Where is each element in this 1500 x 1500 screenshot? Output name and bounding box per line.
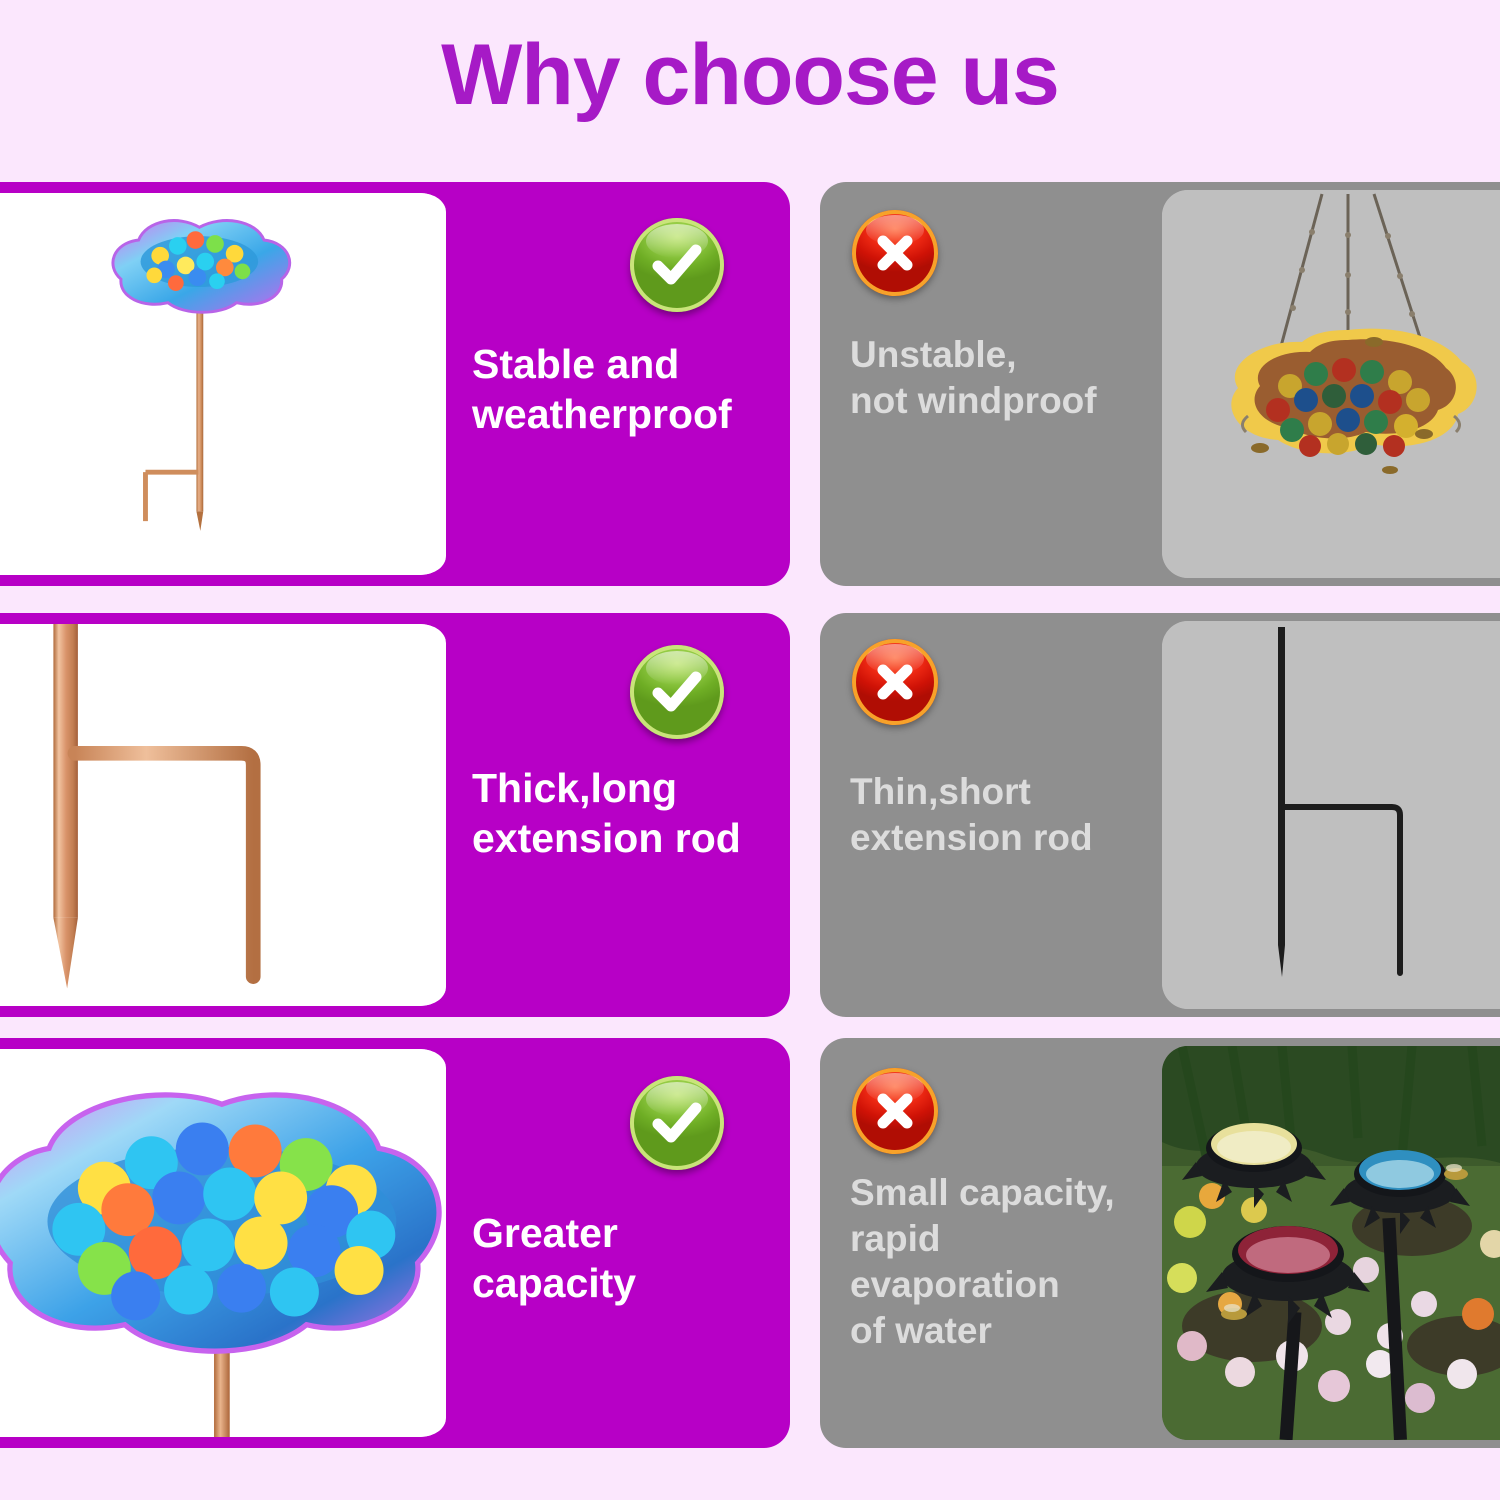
bad-panel-2: Thin,short extension rod	[820, 613, 1500, 1017]
check-icon	[648, 236, 706, 294]
good-panel-3: Greater capacity	[0, 1038, 790, 1448]
good-panel-1: Stable and weatherproof	[0, 182, 790, 586]
close-icon	[870, 657, 920, 707]
check-badge	[630, 1076, 724, 1170]
bad-label-2: Thin,short extension rod	[850, 769, 1150, 861]
good-photo-1	[0, 186, 446, 582]
bad-label-1: Unstable, not windproof	[850, 332, 1150, 424]
garden-small-bowl-feeders-photo-image	[1162, 1046, 1500, 1440]
good-photo-3	[0, 1042, 446, 1444]
good-photo-2	[0, 617, 446, 1013]
bad-photo-2	[1162, 621, 1500, 1009]
cross-badge	[852, 210, 938, 296]
comparison-row-3: Greater capacity Small capacity, rapid e…	[0, 1038, 1500, 1448]
check-badge	[630, 645, 724, 739]
hanging-chain-bee-feeder-image	[1162, 190, 1500, 578]
large-marble-filled-bowl-image	[0, 1049, 446, 1437]
comparison-infographic: Why choose us	[0, 0, 1500, 1500]
bad-label-3: Small capacity, rapid evaporation of wat…	[850, 1170, 1150, 1354]
good-label-1: Stable and weatherproof	[472, 339, 780, 439]
bad-panel-3: Small capacity, rapid evaporation of wat…	[820, 1038, 1500, 1448]
good-label-2: Thick,long extension rod	[472, 763, 780, 863]
close-icon	[870, 1086, 920, 1136]
thin-black-extension-rod-image	[1162, 621, 1500, 1009]
page-title: Why choose us	[0, 28, 1500, 123]
check-icon	[648, 1094, 706, 1152]
check-icon	[648, 663, 706, 721]
good-label-3: Greater capacity	[472, 1208, 780, 1308]
thick-copper-extension-rod-image	[0, 624, 446, 1006]
bad-panel-1: Unstable, not windproof	[820, 182, 1500, 586]
comparison-row-1: Stable and weatherproof Unstable, not wi…	[0, 182, 1500, 586]
bad-photo-3	[1162, 1046, 1500, 1440]
good-panel-2: Thick,long extension rod	[0, 613, 790, 1017]
bad-photo-1	[1162, 190, 1500, 578]
cross-badge	[852, 1068, 938, 1154]
check-badge	[630, 218, 724, 312]
close-icon	[870, 228, 920, 278]
cross-badge	[852, 639, 938, 725]
comparison-row-2: Thick,long extension rod Thin,short exte…	[0, 613, 1500, 1017]
flower-birdbath-on-stake-image	[0, 193, 446, 575]
